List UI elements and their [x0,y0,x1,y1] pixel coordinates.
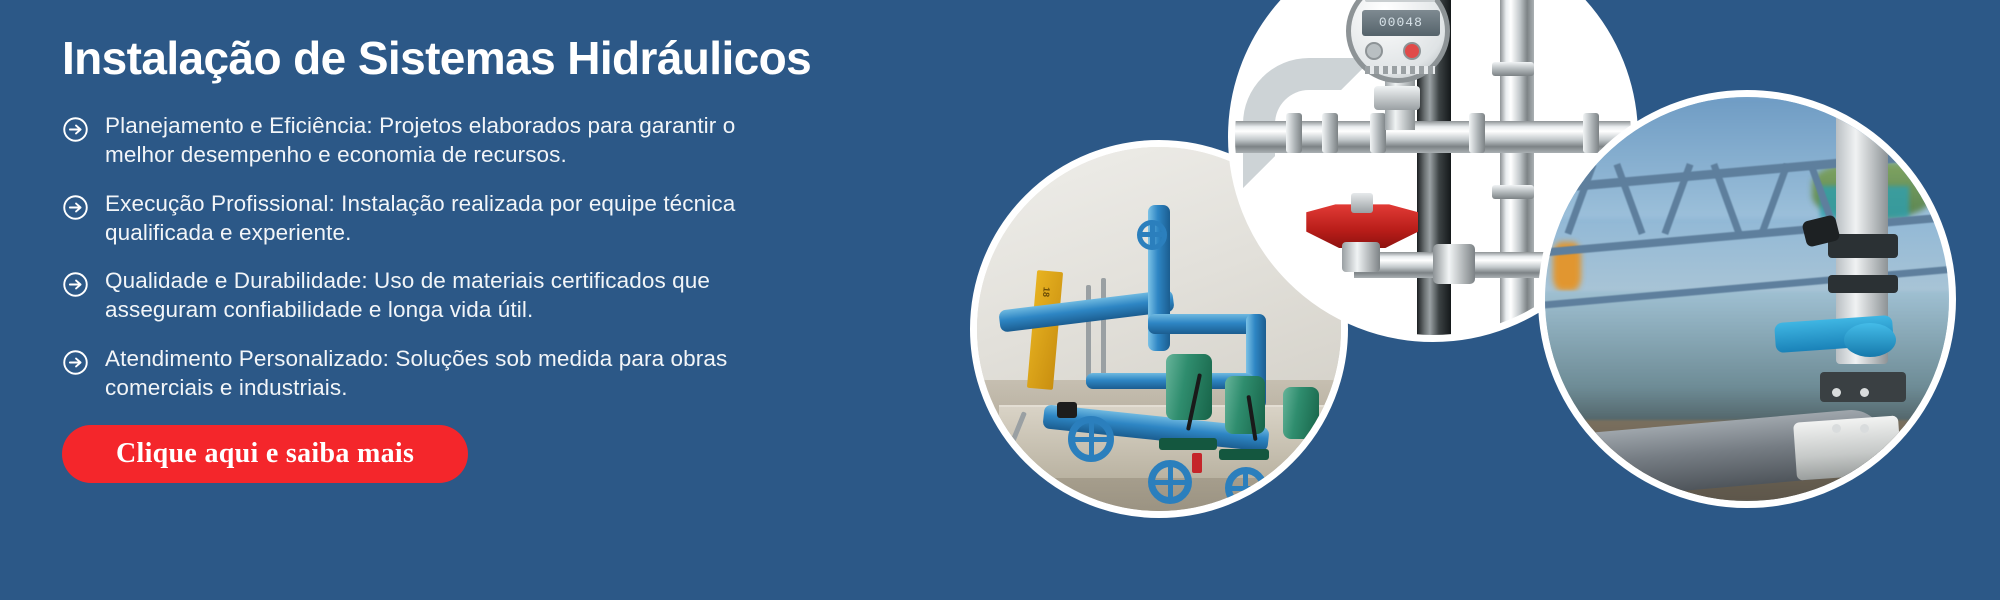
red-valve-handle-icon [1306,204,1418,248]
content-column: Instalação de Sistemas Hidráulicos Plane… [62,34,962,483]
meter-reading: 00048 [1362,10,1440,36]
arrow-right-circle-icon [62,194,89,221]
cta-button[interactable]: Clique aqui e saiba mais [62,425,468,483]
treatment-plant-photo [1538,90,1956,508]
list-item: Qualidade e Durabilidade: Uso de materia… [62,267,962,325]
list-item-text: Atendimento Personalizado: Soluções sob … [105,345,745,403]
arrow-right-circle-icon [62,349,89,376]
list-item: Execução Profissional: Instalação realiz… [62,190,962,248]
hero-banner: Instalação de Sistemas Hidráulicos Plane… [0,0,2000,600]
arrow-right-circle-icon [62,271,89,298]
list-item-text: Execução Profissional: Instalação realiz… [105,190,745,248]
list-item: Planejamento e Eficiência: Projetos elab… [62,112,962,170]
list-item-text: Qualidade e Durabilidade: Uso de materia… [105,267,745,325]
page-title: Instalação de Sistemas Hidráulicos [62,34,962,82]
image-collage: 18 [940,0,2000,600]
list-item: Atendimento Personalizado: Soluções sob … [62,345,962,403]
cta-container: Clique aqui e saiba mais [62,425,962,483]
list-item-text: Planejamento e Eficiência: Projetos elab… [105,112,745,170]
benefits-list: Planejamento e Eficiência: Projetos elab… [62,112,962,402]
arrow-right-circle-icon [62,116,89,143]
